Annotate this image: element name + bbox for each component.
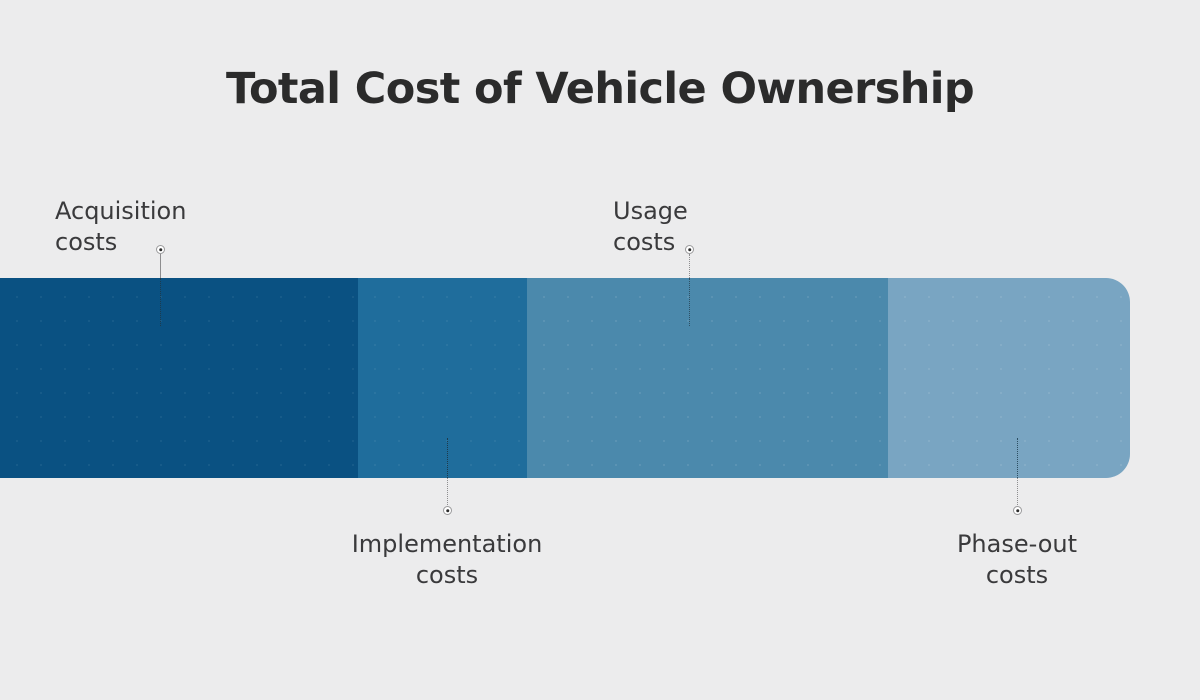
label-acquisition: Acquisition costs — [55, 196, 186, 258]
label-phaseout: Phase-out costs — [867, 529, 1167, 591]
leader-line-usage-outer — [689, 254, 690, 278]
leader-line-usage-inner — [689, 278, 690, 326]
label-implementation: Implementation costs — [297, 529, 597, 591]
leader-line-acquisition-outer — [160, 254, 161, 278]
marker-dot-phaseout — [1013, 506, 1022, 515]
bar-segment-acquisition[interactable] — [0, 278, 358, 478]
stacked-bar — [0, 278, 1130, 478]
leader-line-phaseout-outer — [1017, 478, 1018, 507]
label-usage: Usage costs — [613, 196, 688, 258]
leader-line-phaseout-inner — [1017, 438, 1018, 478]
bar-segment-usage[interactable] — [527, 278, 888, 478]
leader-line-acquisition-inner — [160, 278, 161, 326]
marker-dot-acquisition — [156, 245, 165, 254]
infographic-canvas: Total Cost of Vehicle Ownership Acquisit… — [0, 0, 1200, 700]
bar-segment-phaseout[interactable] — [888, 278, 1130, 478]
page-title: Total Cost of Vehicle Ownership — [0, 68, 1200, 111]
marker-dot-usage — [685, 245, 694, 254]
marker-dot-implementation — [443, 506, 452, 515]
leader-line-implementation-outer — [447, 478, 448, 507]
bar-segment-implementation[interactable] — [358, 278, 527, 478]
leader-line-implementation-inner — [447, 438, 448, 478]
